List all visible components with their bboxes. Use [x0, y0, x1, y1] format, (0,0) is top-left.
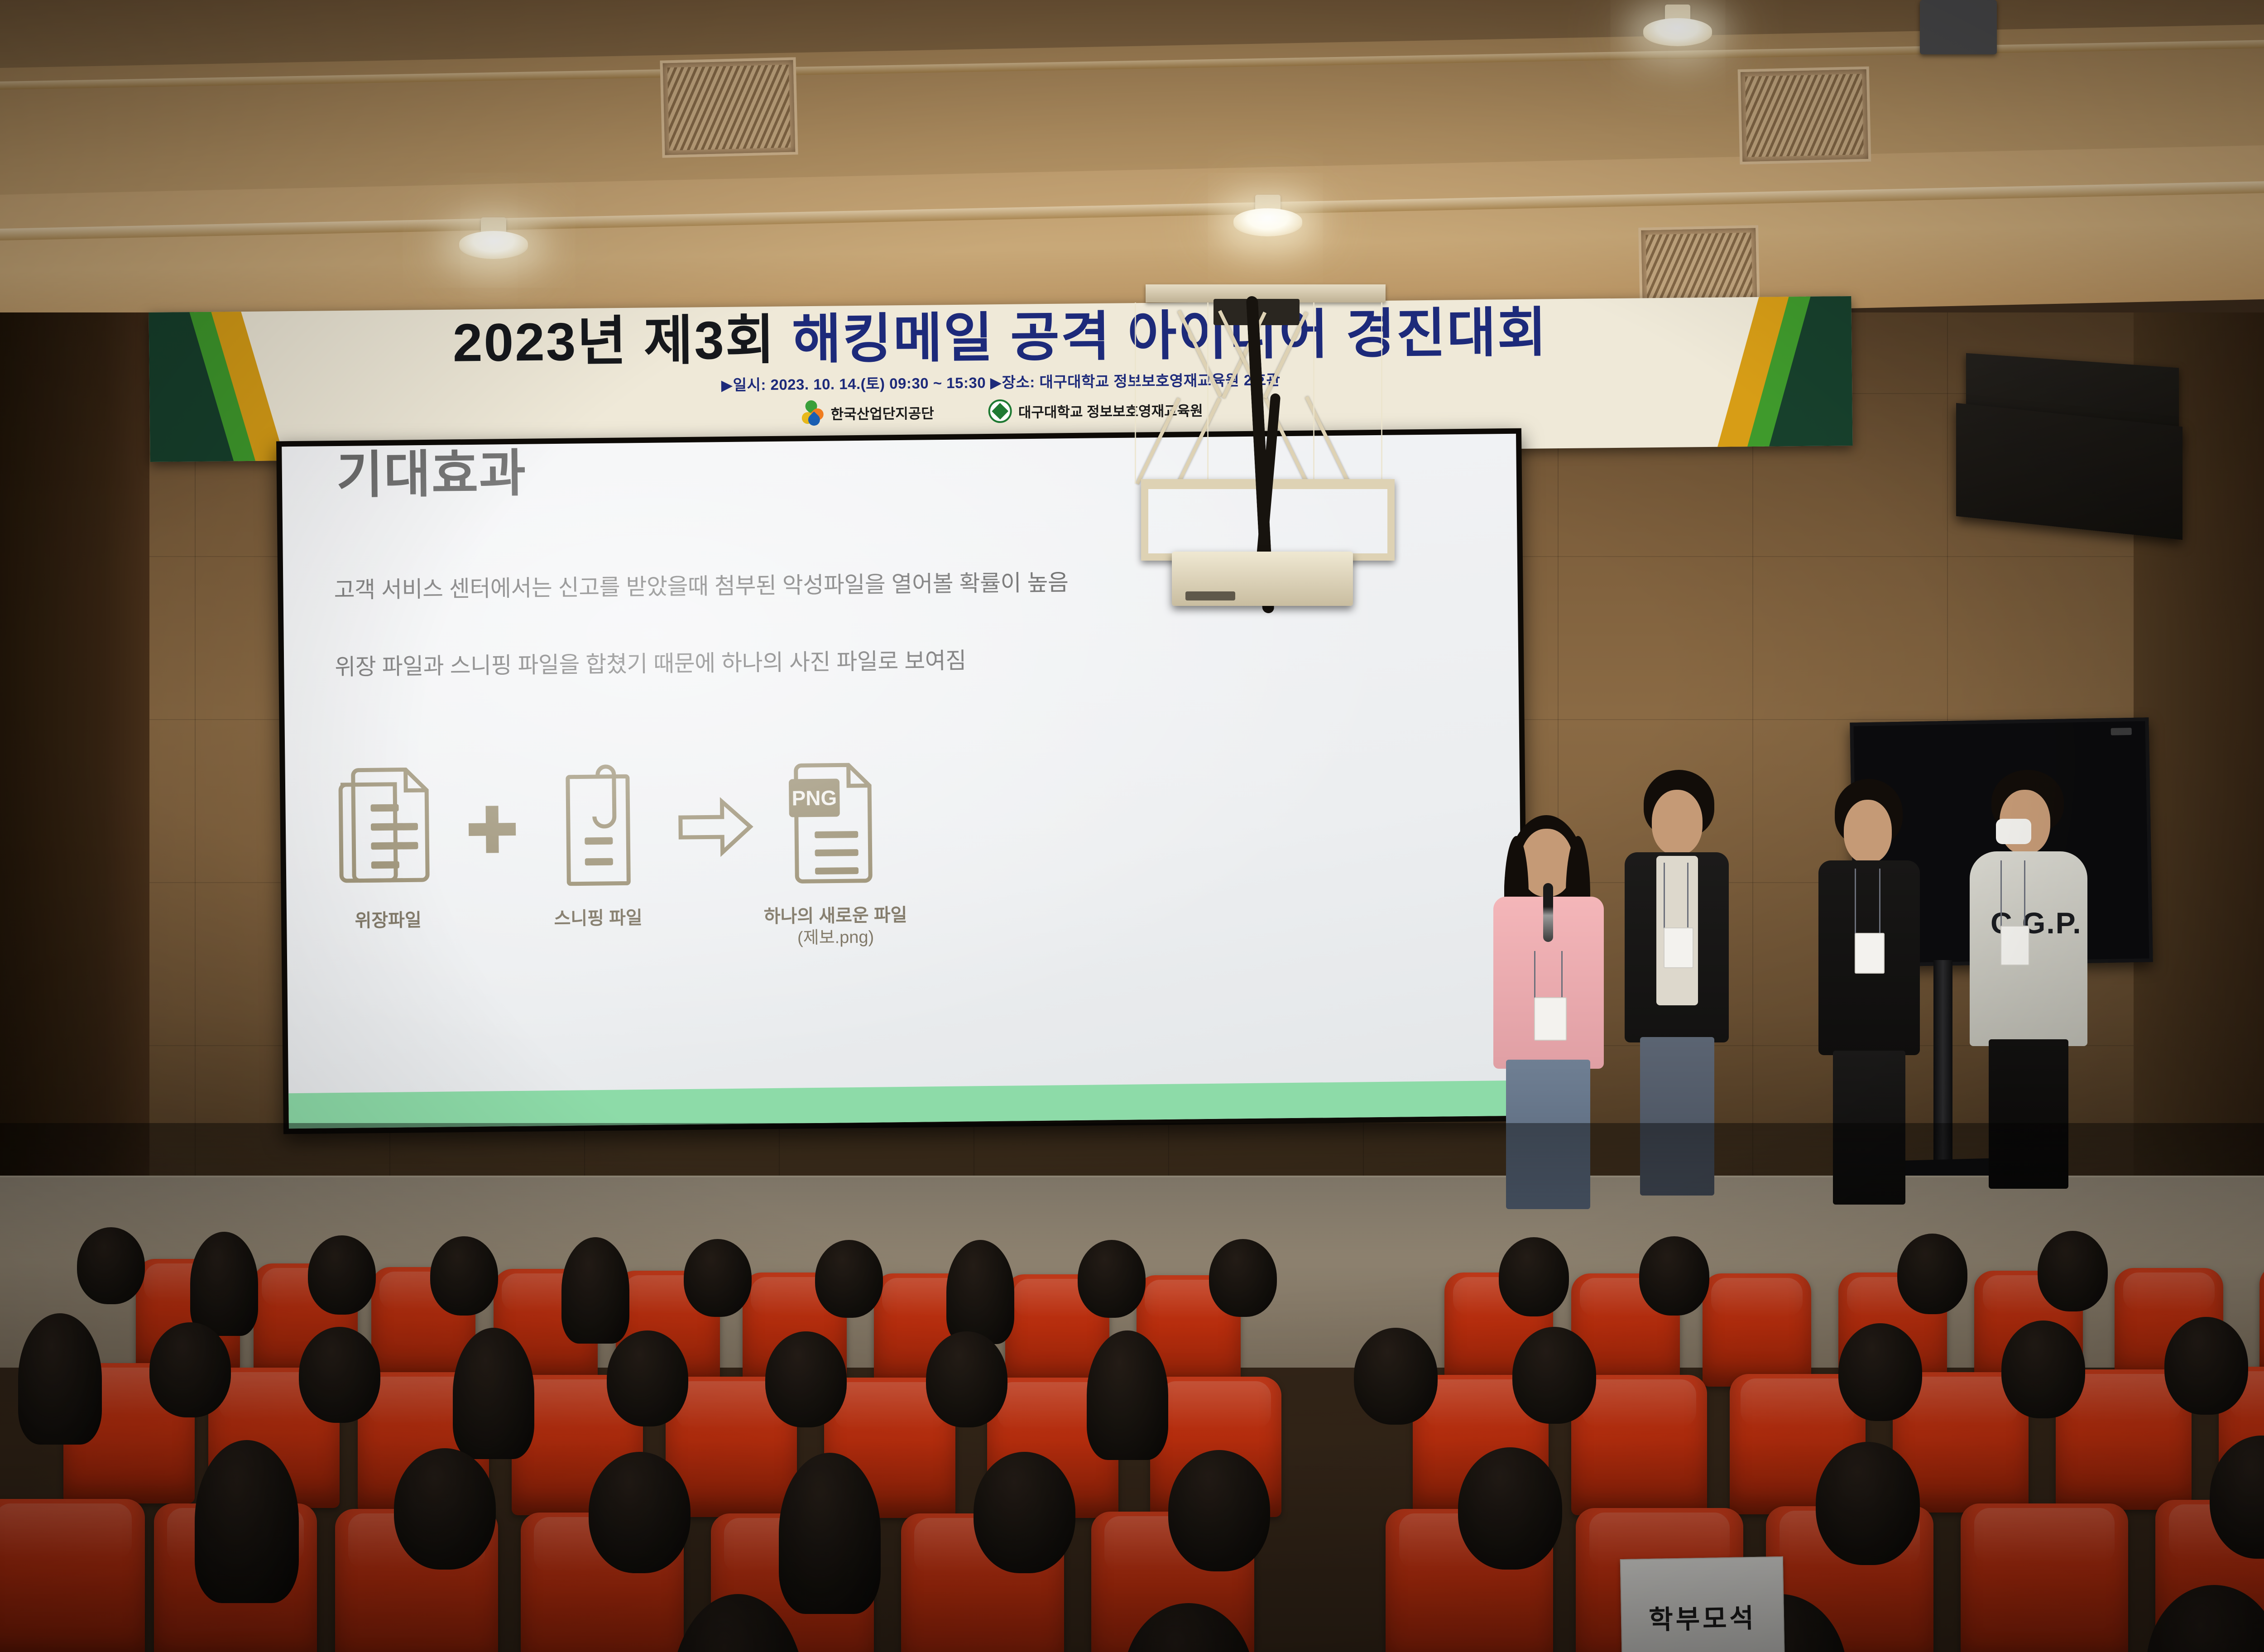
air-vent [660, 57, 798, 158]
audience-head [1168, 1450, 1270, 1571]
presenter-lanyard [1855, 869, 1856, 936]
audience-head [946, 1240, 1014, 1344]
audience-seating: 학부모석 정보보호영재교육원 [0, 1123, 2264, 1652]
kicox-pinwheel-icon [799, 400, 825, 426]
diagram-node-new-file: PNG 하나의 새로운 파일 (제보.png) [779, 757, 890, 949]
audience-head [308, 1235, 376, 1315]
audience-head [607, 1330, 688, 1426]
audience-head [1838, 1323, 1922, 1421]
placard-text: 학부모석 [1649, 1597, 1757, 1637]
slide-accent-bar [288, 1081, 1523, 1129]
audience-head [18, 1313, 102, 1445]
diagram-caption-new-file-sub: (제보.png) [764, 927, 907, 950]
face-mask [1996, 819, 2031, 844]
rig-wire [1207, 303, 1209, 484]
audience-head [2001, 1321, 2085, 1418]
audience-head [299, 1327, 380, 1423]
presenter-name-badge [1855, 933, 1885, 974]
seat-placard-parents: 학부모석 정보보호영재교육원 [1620, 1556, 1785, 1652]
presenter-lanyard [1879, 869, 1880, 936]
presenter-2 [1616, 770, 1739, 1168]
plus-icon [464, 761, 520, 898]
air-vent [1738, 67, 1871, 165]
document-file-icon [332, 762, 442, 899]
kicox-label: 한국산업단지공단 [830, 402, 934, 423]
spotlight-lamp [1643, 18, 1712, 46]
diagram-caption-new-file-main: 하나의 새로운 파일 [764, 905, 907, 927]
presenter-lanyard [2000, 860, 2002, 928]
diagram-node-sniffing-file: 스니핑 파일 [542, 760, 652, 930]
presenter-lanyard [1687, 863, 1688, 931]
rig-wire [1313, 303, 1314, 484]
audience-head [195, 1440, 299, 1603]
diagram-node-disguise-file: 위장파일 [332, 762, 443, 932]
rig-wire [1135, 303, 1136, 484]
seat[interactable] [1961, 1503, 2128, 1652]
rig-wire [1381, 303, 1382, 484]
audience-head [1458, 1447, 1562, 1570]
audience-head [149, 1322, 231, 1417]
slide-diagram: 위장파일 스니핑 파일 [332, 754, 1151, 1017]
slide-body-line-2: 위장 파일과 스니핑 파일을 합쳤기 때문에 하나의 사진 파일로 보여짐 [335, 643, 966, 682]
presenter-head [1844, 800, 1892, 863]
audience-head [190, 1232, 258, 1336]
audience-head [1499, 1237, 1569, 1316]
presenter-lanyard [1561, 951, 1563, 1001]
audience-head [684, 1239, 752, 1317]
ceiling-equipment-box [1920, 0, 1997, 54]
audience-head [926, 1331, 1007, 1427]
daegu-university-icon [988, 399, 1012, 423]
ceiling-projector [1172, 552, 1353, 606]
slide-title: 기대효과 [336, 434, 527, 508]
presenter-head [1652, 790, 1703, 855]
audience-head [974, 1452, 1075, 1573]
presenter-lanyard [1664, 863, 1665, 931]
audience-head [1209, 1239, 1277, 1317]
seat[interactable] [2259, 1265, 2264, 1378]
diagram-caption-new-file: 하나의 새로운 파일 (제보.png) [764, 904, 908, 950]
audience-head [815, 1240, 883, 1318]
audience-head [1897, 1234, 1967, 1314]
presenter-4: C.G.P. [1961, 770, 2096, 1177]
arrow-right-icon [674, 759, 757, 895]
audience-head [1512, 1327, 1596, 1424]
audience-head [430, 1236, 498, 1316]
presenter-name-badge [1534, 997, 1567, 1041]
audience-head [2164, 1317, 2248, 1415]
audience-head [779, 1453, 881, 1614]
seat[interactable] [0, 1499, 145, 1652]
spotlight-lamp [459, 231, 528, 259]
audience-head [77, 1227, 145, 1304]
audience-head [394, 1448, 496, 1570]
presenter-lanyard [2024, 860, 2025, 928]
audience-head [1087, 1330, 1168, 1460]
audience-head [561, 1237, 629, 1344]
audience-head [1078, 1240, 1146, 1318]
presenter-3 [1811, 779, 1929, 1177]
slide-body-line-1: 고객 서비스 센터에서는 신고를 받았을때 첨부된 악성파일을 열어볼 확률이 … [334, 564, 1069, 605]
presenter-name-badge [2000, 926, 2029, 965]
microphone[interactable] [1543, 883, 1553, 942]
spotlight-lamp [1233, 208, 1302, 236]
audience-head [765, 1331, 847, 1427]
speaker-cabinet-bottom [1956, 403, 2182, 540]
clipboard-hook-icon [542, 760, 652, 897]
audience-head [2038, 1231, 2108, 1311]
projector-lift-rig [1118, 284, 1417, 642]
diagram-caption-sniffing-file: 스니핑 파일 [554, 907, 643, 930]
png-file-icon: PNG [779, 757, 889, 894]
banner-logo-kicox: 한국산업단지공단 [799, 399, 934, 426]
seat[interactable] [1703, 1273, 1811, 1387]
auditorium-scene: 2023년 제3회 해킹메일 공격 아이디어 경진대회 ▶일시: 2023. 1… [0, 0, 2264, 1652]
audience-head [1639, 1236, 1709, 1316]
svg-text:PNG: PNG [791, 786, 837, 810]
audience-head [589, 1452, 691, 1573]
presenter-lanyard [1534, 951, 1535, 1001]
presenter-name-badge [1664, 927, 1693, 968]
diagram-caption-disguise-file: 위장파일 [355, 909, 422, 932]
audience-head [453, 1328, 534, 1459]
audience-head [1816, 1442, 1920, 1565]
audience-head [1354, 1328, 1438, 1425]
line-array-speaker [1956, 360, 2192, 569]
